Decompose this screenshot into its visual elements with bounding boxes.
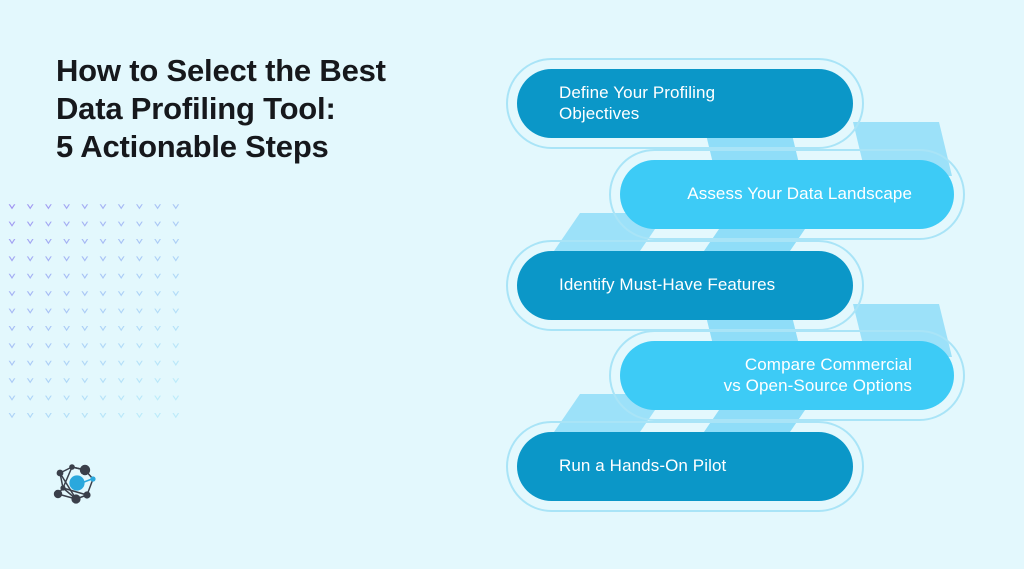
step-1[interactable]: Define Your Profiling Objectives (517, 69, 853, 138)
step-5[interactable]: Run a Hands-On Pilot (517, 432, 853, 501)
step-pill[interactable]: Assess Your Data Landscape (620, 160, 954, 229)
step-label: Run a Hands-On Pilot (517, 456, 853, 476)
step-pill[interactable]: Run a Hands-On Pilot (517, 432, 853, 501)
step-2[interactable]: Assess Your Data Landscape (620, 160, 954, 229)
step-pill[interactable]: Compare Commercial vs Open-Source Option… (620, 341, 954, 410)
step-3[interactable]: Identify Must-Have Features (517, 251, 853, 320)
step-flow-diagram: Define Your Profiling ObjectivesAssess Y… (0, 0, 1024, 569)
step-label: Compare Commercial vs Open-Source Option… (620, 355, 954, 395)
step-pill[interactable]: Define Your Profiling Objectives (517, 69, 853, 138)
step-pill[interactable]: Identify Must-Have Features (517, 251, 853, 320)
step-4[interactable]: Compare Commercial vs Open-Source Option… (620, 341, 954, 410)
step-label: Identify Must-Have Features (517, 275, 853, 295)
step-list: Define Your Profiling ObjectivesAssess Y… (0, 0, 1024, 569)
infographic-canvas: How to Select the Best Data Profiling To… (0, 0, 1024, 569)
step-label: Define Your Profiling Objectives (517, 83, 853, 123)
step-label: Assess Your Data Landscape (620, 184, 954, 204)
